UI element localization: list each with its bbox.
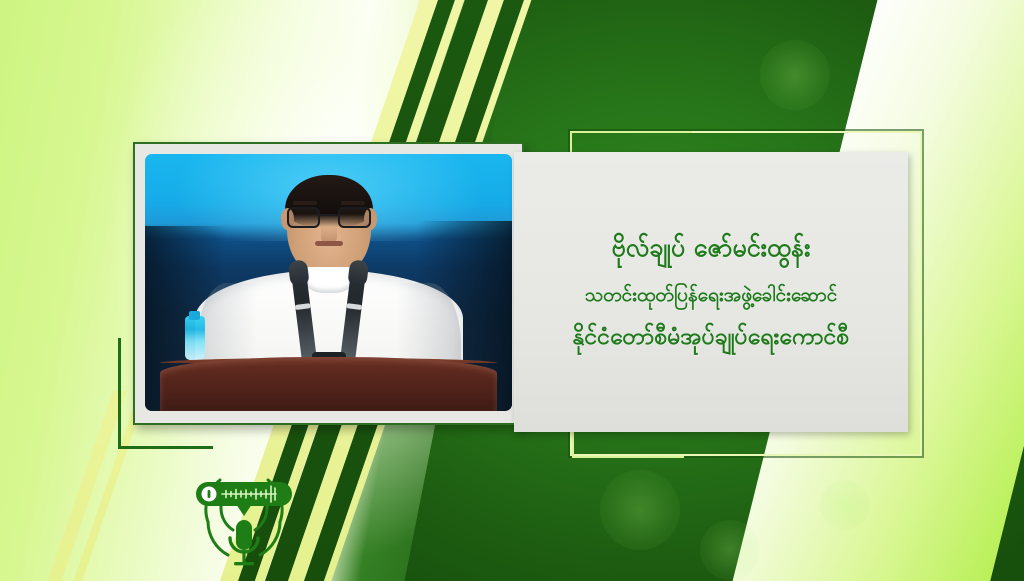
podium <box>160 357 498 411</box>
broadcast-lower-third-screen: ဗိုလ်ချုပ် ဇော်မင်းထွန်း သတင်းထုတ်ပြန်ရေ… <box>0 0 1024 581</box>
speaker-role: သတင်းထုတ်ပြန်ရေးအဖွဲ့ခေါင်းဆောင် <box>585 281 838 310</box>
podcast-microphone-logo <box>188 452 300 577</box>
microphone-icon <box>230 520 258 565</box>
waveform-bubble-icon <box>196 482 292 516</box>
speaker-photo-card <box>133 142 524 425</box>
speaker-photo <box>145 154 512 411</box>
speaker-name: ဗိုလ်ချုပ် ဇော်မင်းထွန်း <box>612 229 811 267</box>
speaker-info-panel: ဗိုလ်ချုပ် ဇော်မင်းထွန်း သတင်းထုတ်ပြန်ရေ… <box>514 152 908 432</box>
water-bottle <box>185 316 205 360</box>
speaker-organization: နိုင်ငံတော်စီမံအုပ်ချုပ်ရေးကောင်စီ <box>573 320 850 355</box>
